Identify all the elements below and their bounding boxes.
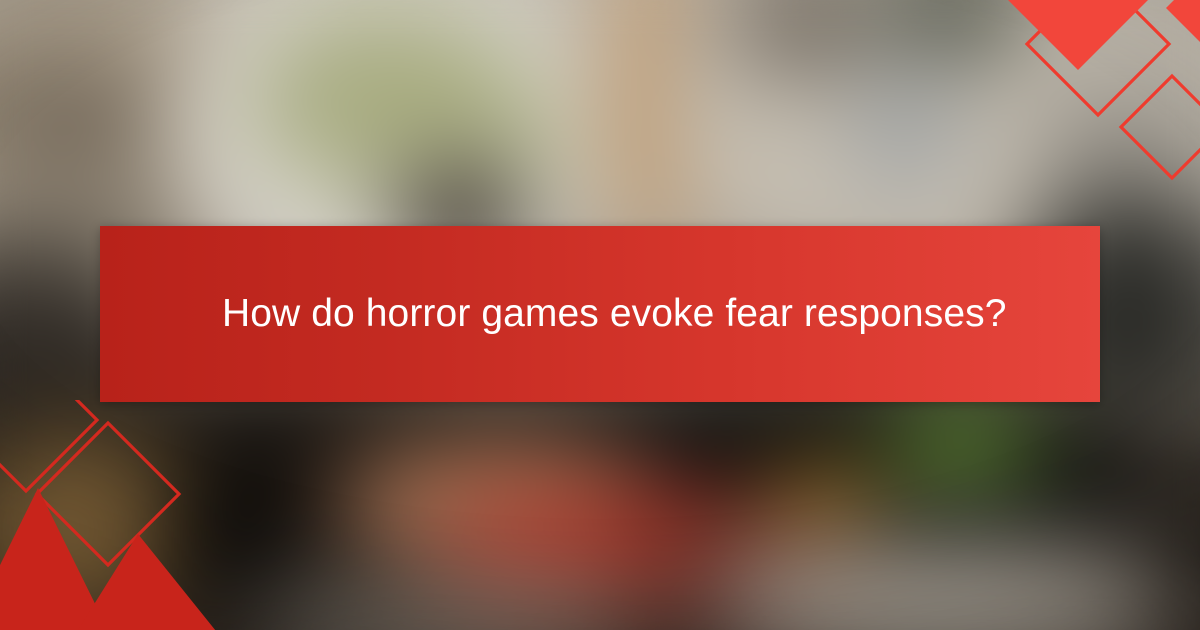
headline-banner: How do horror games evoke fear responses…	[100, 226, 1100, 402]
page-title: How do horror games evoke fear responses…	[100, 292, 1047, 337]
banner-canvas: How do horror games evoke fear responses…	[0, 0, 1200, 630]
